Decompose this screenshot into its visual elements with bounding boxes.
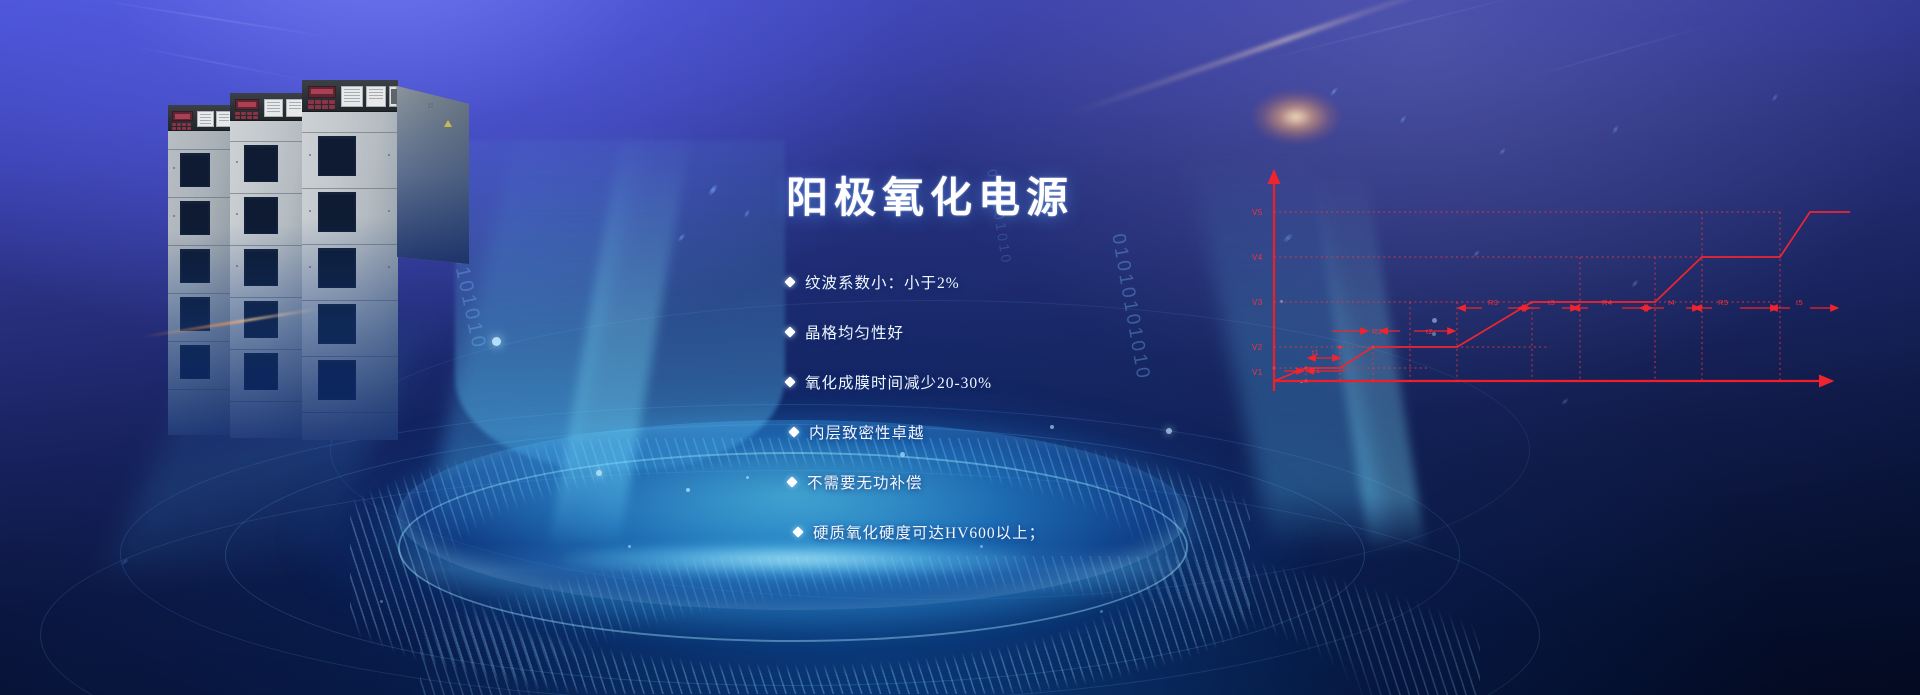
diamond-bullet-icon: [786, 476, 797, 487]
svg-text:R3: R3: [1488, 298, 1498, 307]
particle: [1100, 610, 1103, 613]
waveform-chart: V5 V4 V3 V2 V1 R1 t1 R2: [1250, 155, 1850, 405]
diamond-bullet-icon: [792, 526, 803, 537]
list-item: 硬质氧化硬度可达HV600以上；: [794, 521, 1306, 543]
diamond-bullet-icon: [784, 276, 795, 287]
cabinet-side-face: [397, 86, 469, 264]
particle-shard: [1499, 147, 1507, 156]
diamond-bullet-icon: [784, 326, 795, 337]
feature-text: 晶格均匀性好: [805, 321, 904, 343]
chart-series-line: [1274, 212, 1850, 381]
chart-dimension-arrows: R1 t1 R2 t2 R3 t3 R4 t4: [1284, 298, 1838, 375]
particle-shard: [707, 183, 718, 197]
copy-block: 阳极氧化电源 纹波系数小：小于2% 晶格均匀性好 氧化成膜时间减少20-30% …: [786, 176, 1306, 571]
particle-shard: [1631, 279, 1640, 289]
particle-shard: [677, 232, 687, 242]
svg-text:R5: R5: [1718, 298, 1728, 307]
particle-shard: [743, 208, 751, 218]
feature-text: 硬质氧化硬度可达HV600以上；: [813, 521, 1045, 543]
chart-gridlines: [1274, 212, 1780, 368]
feature-text: 氧化成膜时间减少20-30%: [805, 371, 992, 393]
svg-text:t4: t4: [1668, 298, 1675, 307]
podium-hatch-ring: [420, 556, 1480, 695]
particle: [596, 470, 602, 476]
feature-list: 纹波系数小：小于2% 晶格均匀性好 氧化成膜时间减少20-30% 内层致密性卓越…: [786, 271, 1306, 543]
particle: [686, 488, 690, 492]
chart-drop-lines: [1306, 212, 1780, 381]
list-item: 纹波系数小：小于2%: [786, 271, 1306, 293]
list-item: 内层致密性卓越: [790, 421, 1306, 443]
svg-text:t3: t3: [1548, 298, 1555, 307]
list-item: 氧化成膜时间减少20-30%: [786, 371, 1306, 393]
diamond-bullet-icon: [788, 426, 799, 437]
particle-shard: [1611, 124, 1619, 135]
particle-shard: [1399, 115, 1407, 125]
chart-axes: [1274, 171, 1832, 391]
particle-shard: [1472, 249, 1480, 258]
list-item: 晶格均匀性好: [786, 321, 1306, 343]
particle: [380, 600, 383, 603]
light-streak: [1252, 0, 1543, 63]
page-title: 阳极氧化电源: [786, 176, 1306, 223]
light-beam: [1310, 170, 1426, 550]
feature-text: 不需要无功补偿: [807, 471, 923, 493]
particle: [1432, 318, 1437, 323]
lens-flare-streak: [1069, 0, 1486, 116]
particle: [746, 476, 749, 479]
particle: [628, 545, 631, 548]
particle-shard: [1329, 86, 1339, 97]
feature-text: 内层致密性卓越: [809, 421, 925, 443]
svg-text:R1: R1: [1310, 366, 1320, 375]
cabinet-right: [302, 80, 398, 440]
light-column: [455, 140, 785, 470]
particle-shard: [120, 557, 130, 566]
svg-text:t1: t1: [1312, 348, 1319, 357]
feature-text: 纹波系数小：小于2%: [805, 271, 960, 293]
hero-banner: 0101010101010 01010101010 010101010: [0, 0, 1920, 695]
lens-flare-icon: [1253, 91, 1339, 143]
light-beam: [548, 130, 692, 550]
particle: [1432, 332, 1436, 336]
particle-shard: [1560, 397, 1569, 406]
light-streak: [1514, 23, 1716, 82]
svg-text:t2: t2: [1426, 327, 1433, 336]
particle-shard: [1771, 93, 1779, 103]
svg-text:R4: R4: [1602, 298, 1612, 307]
svg-text:R2: R2: [1372, 327, 1382, 336]
list-item: 不需要无功补偿: [788, 471, 1306, 493]
diamond-bullet-icon: [784, 376, 795, 387]
light-streak: [89, 0, 336, 39]
light-streak: [122, 44, 309, 81]
equipment-cabinets: [168, 80, 498, 470]
svg-text:t5: t5: [1796, 298, 1803, 307]
waveform-svg: V5 V4 V3 V2 V1 R1 t1 R2: [1250, 155, 1850, 405]
